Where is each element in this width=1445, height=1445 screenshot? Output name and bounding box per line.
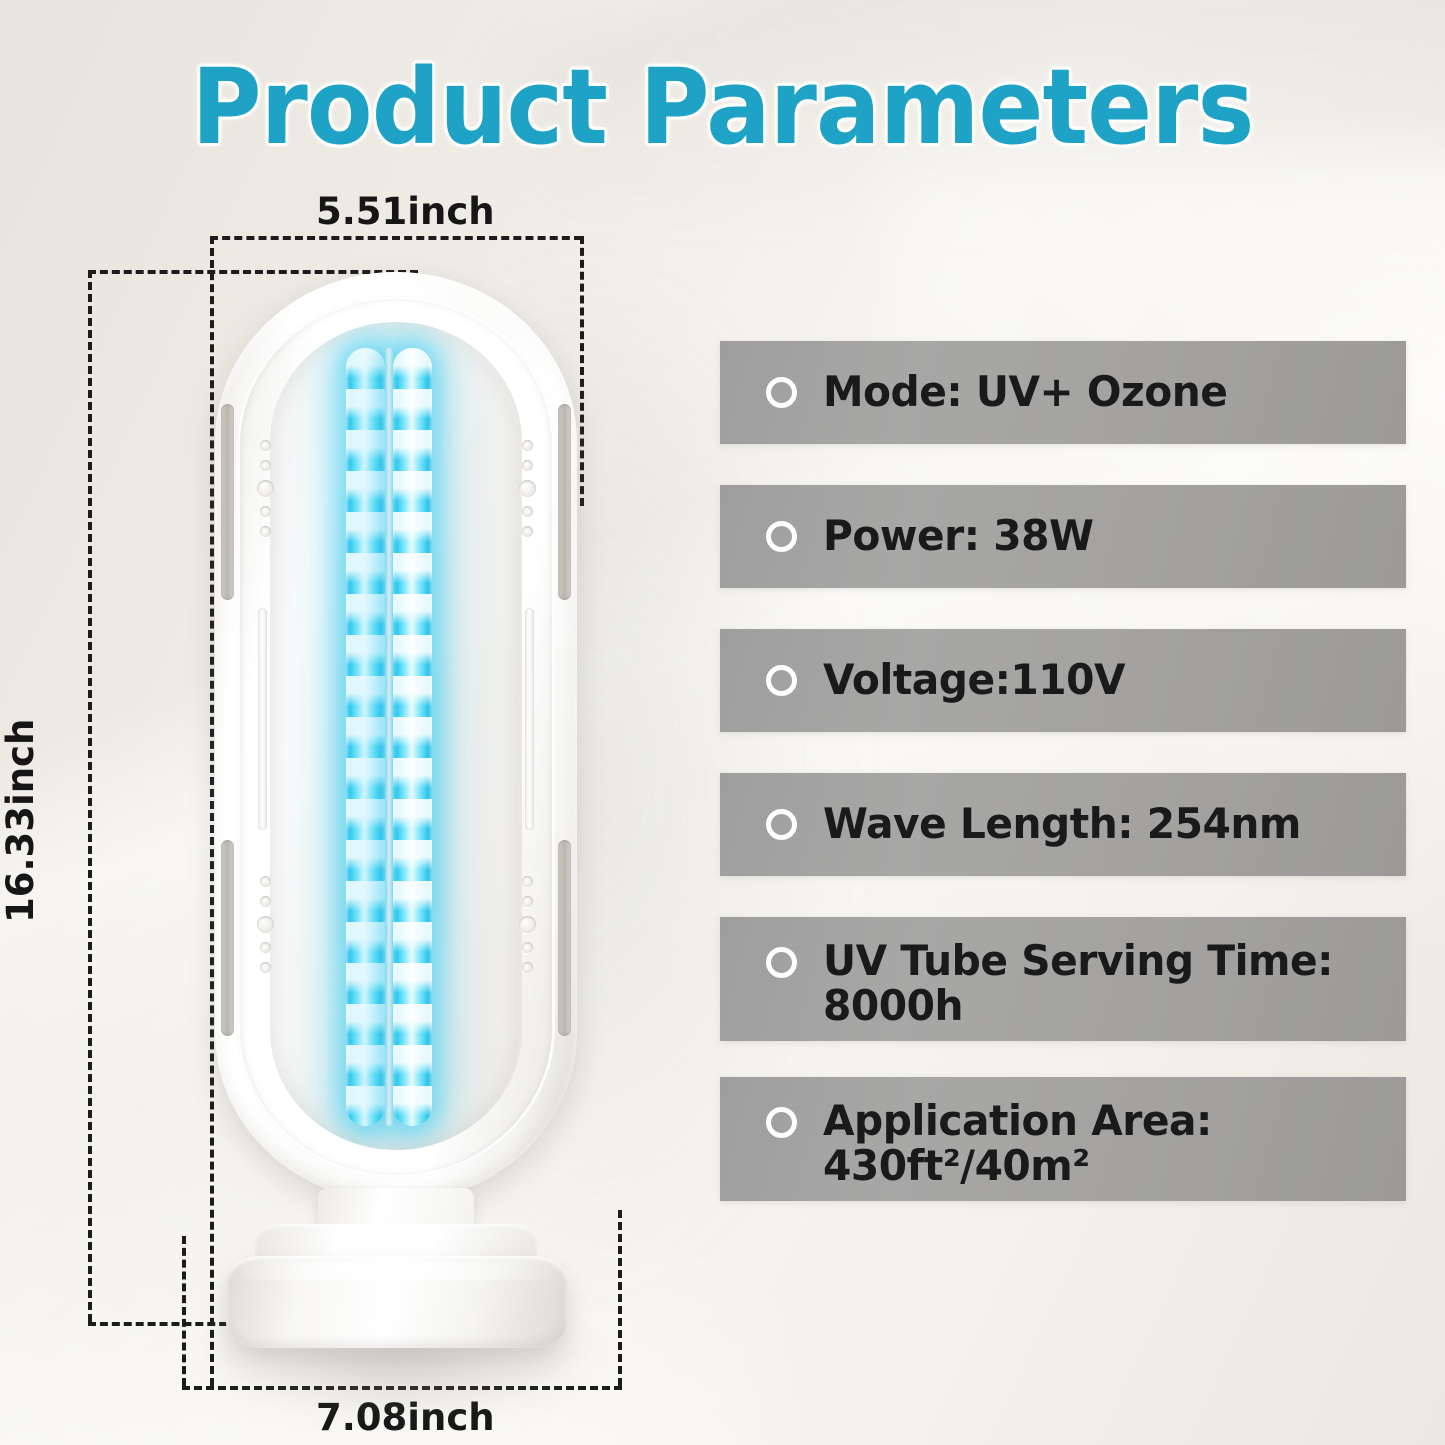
width-dimension-top-line	[210, 236, 582, 240]
vent-slot-right-upper	[558, 404, 571, 600]
parameter-row-wavelength: Wave Length: 254nm	[720, 773, 1406, 876]
parameter-label: Voltage:110V	[823, 658, 1125, 703]
dimple-group-left-lower	[252, 876, 278, 973]
dimple	[522, 440, 533, 451]
circle-outline-icon	[766, 947, 797, 978]
dimple	[260, 440, 271, 451]
circle-outline-icon	[766, 521, 797, 552]
parameter-label: Mode: UV+ Ozone	[823, 370, 1227, 415]
parameter-row-voltage: Voltage:110V	[720, 629, 1406, 732]
light-slot-right	[525, 608, 534, 830]
height-dimension-label: 16.33inch	[0, 719, 42, 923]
depth-dimension-right-line	[618, 1210, 622, 1386]
vent-slot-left-lower	[221, 840, 234, 1036]
parameter-label: Power: 38W	[823, 514, 1093, 559]
page-title: Product Parameters	[58, 46, 1387, 168]
height-dimension-line	[88, 270, 92, 1322]
parameter-row-application-area: Application Area: 430ft²/40m²	[720, 1077, 1406, 1201]
uv-sterilizer-lamp-image	[196, 262, 596, 1392]
parameter-label: Wave Length: 254nm	[823, 802, 1301, 847]
uv-tube-left	[346, 348, 385, 1126]
dimple	[260, 896, 271, 907]
dimple	[519, 916, 536, 933]
dimple	[260, 942, 271, 953]
uv-tube-divider	[385, 348, 393, 1126]
dimple-group-right-upper	[514, 440, 540, 537]
dimple	[260, 506, 271, 517]
parameter-row-serving-time: UV Tube Serving Time: 8000h	[720, 917, 1406, 1041]
lamp-cavity	[270, 322, 522, 1150]
dimple	[522, 526, 533, 537]
dimple	[257, 916, 274, 933]
circle-outline-icon	[766, 809, 797, 840]
lamp-base-highlight	[240, 1262, 554, 1280]
dimple	[522, 506, 533, 517]
uv-tube-right-segments	[393, 348, 432, 1126]
dimple	[522, 896, 533, 907]
parameter-list: Mode: UV+ Ozone Power: 38W Voltage:110V …	[720, 341, 1406, 1201]
infographic-canvas: Product Parameters 5.51inch 16.33inch 7.…	[0, 0, 1445, 1445]
parameter-row-power: Power: 38W	[720, 485, 1406, 588]
uv-tube-right	[393, 348, 432, 1126]
width-dimension-label: 5.51inch	[316, 190, 495, 233]
dimple	[260, 460, 271, 471]
uv-tube-left-segments	[346, 348, 385, 1126]
dimple	[519, 480, 536, 497]
parameter-label: UV Tube Serving Time: 8000h	[823, 939, 1333, 1028]
depth-dimension-left-line	[182, 1236, 186, 1386]
circle-outline-icon	[766, 1107, 797, 1138]
dimple	[522, 876, 533, 887]
dimple-group-right-lower	[514, 876, 540, 973]
dimple	[260, 962, 271, 973]
dimple	[257, 480, 274, 497]
dimple	[260, 876, 271, 887]
parameter-row-mode: Mode: UV+ Ozone	[720, 341, 1406, 444]
vent-slot-right-lower	[558, 840, 571, 1036]
vent-slot-left-upper	[221, 404, 234, 600]
dimple	[522, 942, 533, 953]
parameter-label: Application Area: 430ft²/40m²	[823, 1099, 1212, 1188]
dimple	[522, 460, 533, 471]
dimple-group-left-upper	[252, 440, 278, 537]
circle-outline-icon	[766, 377, 797, 408]
dimple	[260, 526, 271, 537]
light-slot-left	[258, 608, 267, 830]
circle-outline-icon	[766, 665, 797, 696]
dimple	[522, 962, 533, 973]
